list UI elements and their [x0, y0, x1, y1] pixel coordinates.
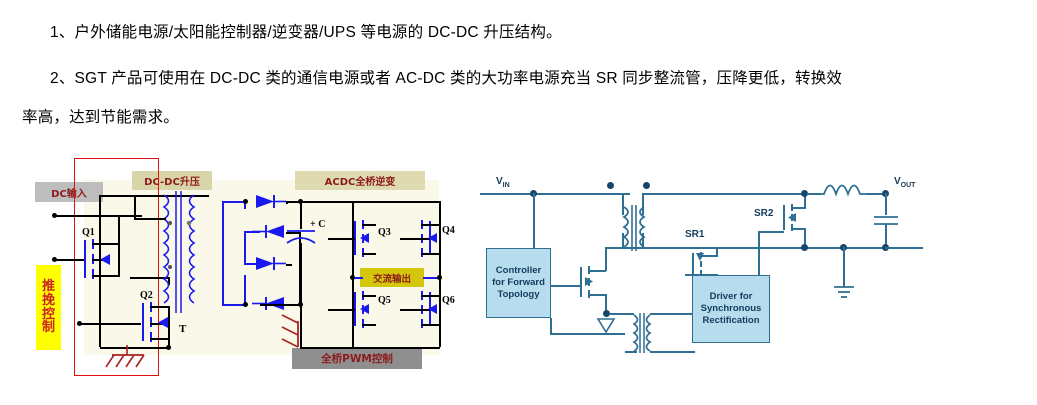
main-transformer-icon [610, 205, 660, 251]
component-label-q3: Q3 [378, 227, 391, 238]
vout-text: V [894, 176, 901, 187]
wire-dc-bus-top [286, 201, 440, 203]
q5-source-lead [362, 324, 376, 326]
ground-icon-right [260, 313, 304, 349]
component-label-C: + C [310, 219, 325, 230]
component-label-T: T [179, 323, 186, 335]
node-q2-gate [77, 321, 82, 326]
q4-drain-lead [421, 224, 440, 226]
q4-source-lead [421, 253, 440, 255]
component-label-q6: Q6 [442, 295, 455, 306]
push-pull-highlight-box [74, 158, 159, 376]
ground-icon-left [104, 345, 150, 379]
paragraph-2-line-1: 2、SGT 产品可使用在 DC-DC 类的通信电源或者 AC-DC 类的大功率电… [50, 66, 842, 88]
wire-sec-rail-bottom [642, 247, 922, 249]
sr1-arrow-icon [695, 249, 706, 263]
node-ac-out-left [350, 275, 355, 280]
wire-to-ground [843, 247, 845, 287]
push-pull-char-3: 控 [42, 308, 55, 322]
wire-vin-to-controller [533, 193, 535, 250]
sr1-gate-bar [692, 253, 694, 275]
label-vout: VOUT [894, 176, 915, 189]
wire-pri-top-to-xfmr [134, 218, 166, 220]
node-bridge-top [243, 199, 248, 204]
primary-mosfet-arrow-icon [583, 276, 595, 287]
left-circuit-diagram: DC-DC升压 ACDC全桥逆变 DC输入 推 挽 控 制 交流输出 全桥PWM… [22, 155, 462, 400]
q5-drain-lead [362, 295, 376, 297]
paragraph-2-line-2: 率高，达到节能需求。 [22, 105, 179, 127]
wire-sec-left [222, 201, 224, 305]
wire-q2-gate [79, 323, 141, 325]
diode-d3-icon [252, 255, 288, 273]
wire-bridge-gnd-rail [300, 347, 440, 349]
wire-left-vertical-rail [99, 195, 101, 347]
dot-polarity-primary [607, 182, 614, 189]
component-label-q4: Q4 [442, 225, 455, 236]
gate-drive-transformer-icon [622, 313, 664, 353]
sr2-gate-lead [758, 231, 784, 233]
dot-polarity-secondary [643, 182, 650, 189]
wire-sec-return [605, 247, 644, 249]
vin-text: V [496, 176, 503, 187]
node-sr2-source [801, 244, 808, 251]
wire-sec-top-drop [642, 193, 644, 215]
wire-cap-bottom [300, 243, 302, 304]
vout-subscript: OUT [901, 182, 916, 189]
label-acdc-full-bridge: ACDC全桥逆变 [295, 171, 425, 190]
push-pull-char-4: 制 [42, 321, 55, 335]
node-bridge-bottom [243, 302, 248, 307]
q1-gate-bar [84, 240, 86, 278]
component-label-q5: Q5 [378, 295, 391, 306]
component-label-q2: Q2 [140, 290, 153, 301]
q3-source-lead [362, 253, 376, 255]
wire-gdt-pri-bottom [625, 351, 637, 353]
q1-drain-to-rail [118, 215, 120, 275]
controller-block: Controller for Forward Topology [486, 248, 551, 318]
q6-body-diode-icon [426, 303, 439, 315]
q5-body-diode-icon [358, 303, 371, 315]
wire-cap-to-gnd [300, 304, 302, 348]
wire-vout-cap-top [885, 193, 887, 215]
sr2-gate-bar [783, 205, 785, 230]
ground-icon-right-diagram [830, 285, 858, 301]
q3-gate-lead [328, 238, 355, 240]
wire-controller-bottom-v [550, 318, 552, 334]
component-label-q1: Q1 [82, 227, 95, 238]
push-pull-char-2: 挽 [42, 294, 55, 308]
label-vin: VIN [496, 176, 510, 189]
wire-bridge-n3 [244, 275, 246, 305]
q5-gate-lead [328, 309, 355, 311]
figures-row: DC-DC升压 ACDC全桥逆变 DC输入 推 挽 控 制 交流输出 全桥PWM… [0, 150, 1037, 405]
label-push-pull-control: 推 挽 控 制 [36, 265, 61, 350]
wire-q1-gate [54, 259, 86, 261]
driver-line-3: Rectification [701, 315, 762, 327]
primary-mosfet-drain [588, 270, 606, 272]
text-block: 1、户外储能电源/太阳能控制器/逆变器/UPS 等电源的 DC-DC 升压结构。… [0, 0, 1037, 150]
wire-gdt-pri-top [610, 313, 634, 315]
q6-source-lead [421, 324, 440, 326]
q3-body-diode-icon [358, 232, 371, 244]
wire-dc-bus-bottom-in [260, 304, 300, 306]
wire-cap-top [300, 201, 302, 229]
wire-sec-bottom-drop [642, 233, 644, 248]
driver-line-1: Driver for [701, 291, 762, 303]
diode-d1-icon [252, 193, 288, 211]
wire-bridge-n2 [244, 231, 246, 263]
label-full-bridge-pwm-control: 全桥PWM控制 [292, 348, 422, 369]
wire-gdt-sec-top [650, 313, 695, 315]
paragraph-1: 1、户外储能电源/太阳能控制器/逆变器/UPS 等电源的 DC-DC 升压结构。 [50, 20, 562, 42]
right-circuit-diagram: VIN Controller for Forward Topology [470, 155, 1030, 400]
node-ac-out-right [437, 275, 442, 280]
controller-line-3: Topology [492, 289, 545, 301]
q1-source-lead [92, 275, 120, 277]
q4-body-diode-icon [426, 232, 439, 244]
wire-vin-rail [480, 193, 630, 195]
controller-line-2: for Forward [492, 277, 545, 289]
wire-pri-top-down [134, 195, 136, 219]
q2-channel-3 [150, 332, 152, 342]
output-inductor-icon [818, 177, 870, 197]
node-cap-top [298, 199, 303, 204]
sr1-drain-up [716, 247, 718, 256]
driver-line-2: Synchronous [701, 303, 762, 315]
controller-line-1: Controller [492, 265, 545, 277]
node-ground-junction [166, 345, 171, 350]
vin-subscript: IN [503, 182, 510, 189]
wire-controller-to-gate [550, 285, 580, 287]
node-primary-source [603, 310, 610, 317]
label-sr2: SR2 [754, 208, 773, 219]
primary-mosfet-gate-bar [580, 267, 582, 297]
label-ac-output: 交流输出 [360, 268, 424, 287]
q3-drain-lead [362, 224, 376, 226]
transformer-icon-T [152, 191, 220, 321]
diode-d2-icon [252, 223, 288, 241]
label-sr1: SR1 [685, 229, 704, 240]
wire-sec-rail-top [642, 193, 819, 195]
wire-bridge-ret-2 [286, 264, 292, 266]
q1-drain-lead [92, 243, 120, 245]
push-pull-char-1: 推 [42, 280, 55, 294]
wire-vout-return-rail [885, 247, 923, 249]
wire-gdt-pri-top-v [610, 313, 612, 315]
diode-return-icon [596, 317, 616, 335]
sr2-gate-lead-v [758, 231, 760, 275]
q6-drain-lead [421, 295, 440, 297]
driver-block: Driver for Synchronous Rectification [692, 275, 770, 343]
q2-gate-bar [142, 303, 144, 341]
node-q1-gate [52, 257, 57, 262]
sr2-arrow-icon [786, 212, 798, 223]
wire-gdt-sec-bottom [650, 351, 695, 353]
node-input-top [52, 213, 57, 218]
primary-mosfet-source [588, 294, 606, 296]
q1-channel-3 [92, 269, 94, 279]
wire-input-top [54, 215, 142, 217]
primary-mosfet-drain-up [605, 247, 607, 271]
q2-source-lead [150, 338, 170, 340]
